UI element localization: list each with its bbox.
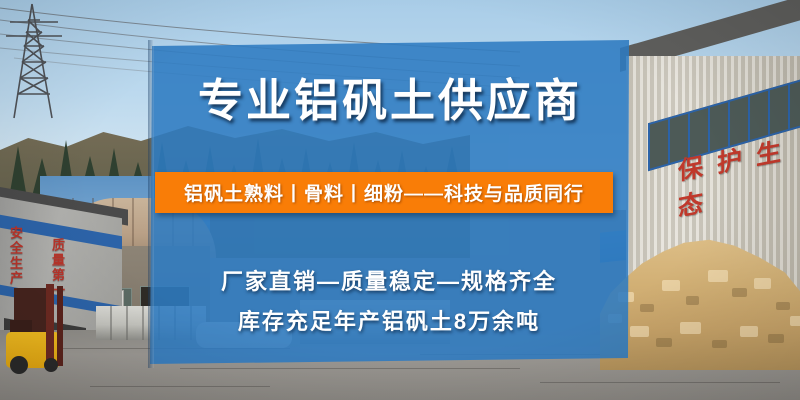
ore-sacks: [196, 322, 292, 348]
left-building-sign-1: 安全生产: [6, 226, 25, 286]
forklift-wheel: [44, 358, 58, 372]
forklift-mast: [57, 286, 63, 366]
parked-truck: [300, 300, 450, 344]
forklift-mast: [46, 284, 54, 368]
transmission-tower-icon: [2, 2, 68, 120]
promo-banner-image: 安全生产 质量第一: [0, 0, 800, 400]
forklift-wheel: [10, 356, 28, 374]
background-photo: 安全生产 质量第一: [0, 0, 800, 400]
flatbed-trailer: [96, 306, 206, 340]
